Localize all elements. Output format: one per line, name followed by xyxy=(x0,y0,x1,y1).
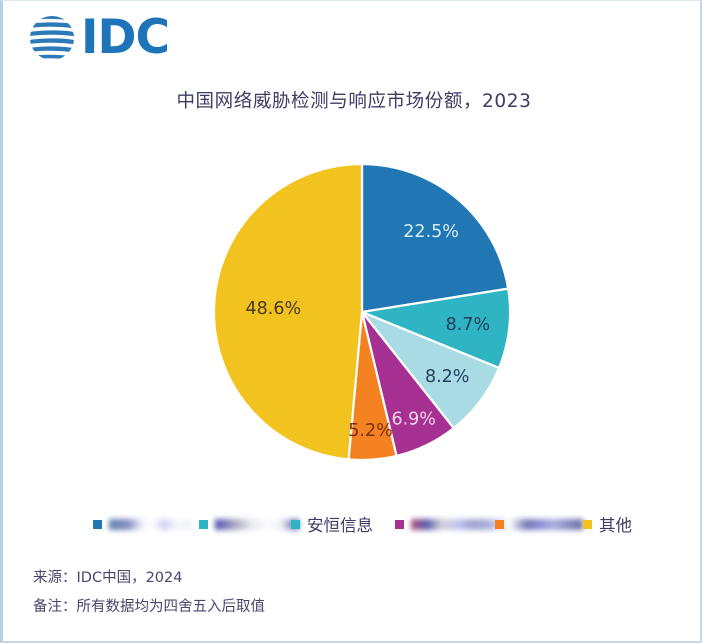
legend-item xyxy=(395,512,507,536)
legend-label-redacted xyxy=(109,519,193,530)
legend-item: 安恒信息 xyxy=(291,512,373,536)
chart-footer: 来源：IDC中国，2024 备注：所有数据均为四舍五入后取值 xyxy=(33,564,673,622)
idc-globe-icon xyxy=(27,13,77,63)
legend-label-redacted xyxy=(411,519,507,530)
pie-slice-label: 8.7% xyxy=(446,315,490,335)
pie-slice-label: 8.2% xyxy=(425,367,469,387)
legend-label-redacted xyxy=(511,519,583,530)
legend-label-redacted xyxy=(215,519,299,530)
chart-title: 中国网络威胁检测与响应市场份额，2023 xyxy=(3,87,702,113)
pie-slice-label: 5.2% xyxy=(348,421,392,441)
legend-marker-icon xyxy=(199,520,208,529)
idc-chart-page: IDC 中国网络威胁检测与响应市场份额，2023 22.5%8.7%8.2%6.… xyxy=(0,0,702,643)
pie-slice-label: 6.9% xyxy=(391,410,435,430)
footer-source: 来源：IDC中国，2024 xyxy=(33,564,673,593)
legend-item xyxy=(495,512,583,536)
legend-item xyxy=(93,512,193,536)
pie-slice-label: 22.5% xyxy=(403,222,459,242)
legend-marker-icon xyxy=(291,520,300,529)
legend-marker-icon xyxy=(395,520,404,529)
legend-marker-icon xyxy=(93,520,102,529)
pie-slice-label: 48.6% xyxy=(246,299,302,319)
footer-note: 备注：所有数据均为四舍五入后取值 xyxy=(33,593,673,622)
pie-chart: 22.5%8.7%8.2%6.9%5.2%48.6% xyxy=(192,161,532,463)
legend-item xyxy=(199,512,299,536)
legend-label: 其他 xyxy=(599,512,632,536)
legend-marker-icon xyxy=(495,520,504,529)
idc-logo: IDC xyxy=(27,11,169,65)
idc-logo-text: IDC xyxy=(81,13,169,63)
legend-item: 其他 xyxy=(583,512,632,536)
legend-marker-icon xyxy=(583,520,592,529)
legend-label: 安恒信息 xyxy=(307,512,373,536)
chart-legend: 安恒信息其他 xyxy=(3,506,702,542)
